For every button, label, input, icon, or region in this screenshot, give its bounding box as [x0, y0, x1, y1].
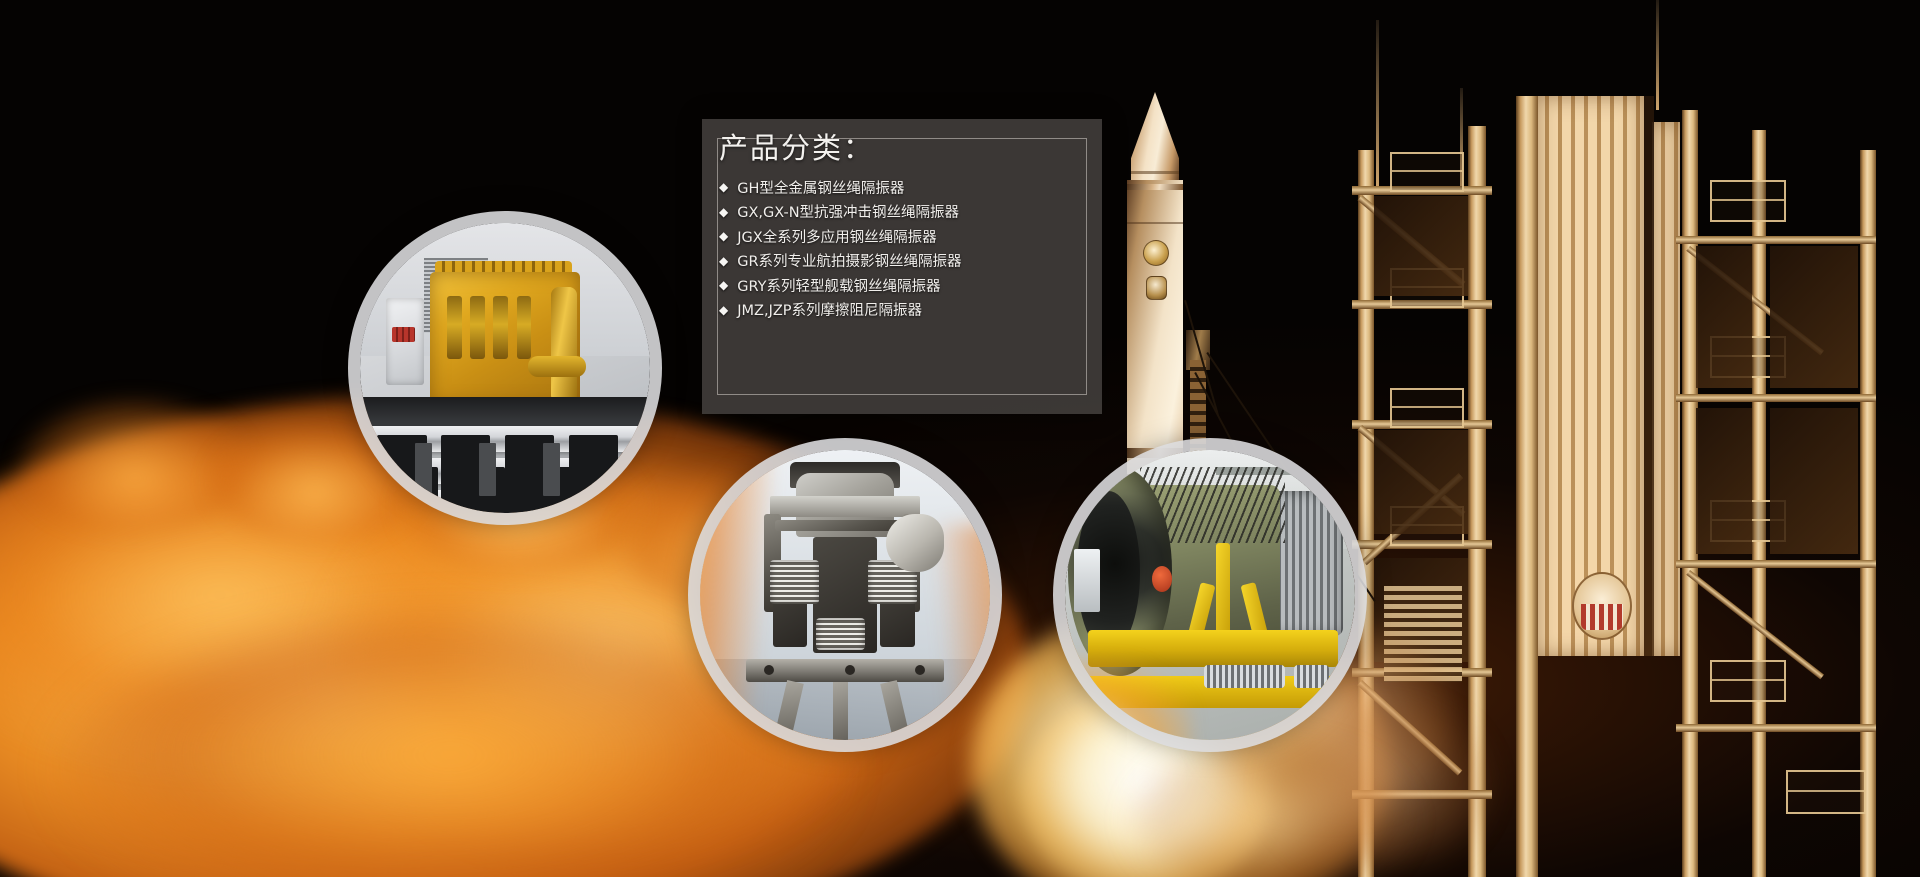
tower-beam: [1676, 560, 1876, 568]
coil-spring-isolator: [1204, 665, 1285, 688]
list-item[interactable]: ◆ GR系列专业航拍摄影钢丝绳隔振器: [719, 249, 1094, 274]
bolt-icon: [845, 665, 855, 675]
product-photo-diesel-generator[interactable]: [360, 223, 650, 513]
side-roller: [886, 514, 944, 572]
tower-beam: [1676, 394, 1876, 402]
isolator-slot: [569, 435, 618, 513]
engine-cylinder: [493, 296, 508, 360]
product-photo-wire-rope-isolator[interactable]: [700, 450, 990, 740]
rocket-mission-patch-icon: [1146, 276, 1167, 300]
tower-shadow-face: [1644, 96, 1654, 656]
tower-equipment-bay: [1696, 408, 1752, 554]
list-item[interactable]: ◆ GX,GX-N型抗强冲击钢丝绳隔振器: [719, 200, 1094, 225]
mounting-plate: [770, 496, 921, 516]
list-item-label: JGX全系列多应用钢丝绳隔振器: [737, 226, 936, 247]
tower-beam: [1676, 236, 1876, 244]
rocket-mission-patch-icon: [1143, 240, 1169, 266]
engine-cylinder: [470, 296, 485, 360]
tower-antenna-icon: [1376, 20, 1379, 188]
photo-inner: [360, 223, 650, 513]
tower-equipment-bay: [1374, 430, 1468, 534]
banner-stage: Delta: [0, 0, 1920, 877]
tower-cladding-panel: [1536, 96, 1644, 656]
tower-platform-railing: [1710, 180, 1786, 222]
list-item-label: JMZ,JZP系列摩擦阻尼隔振器: [737, 299, 922, 320]
tower-mission-emblem-icon: [1572, 572, 1632, 640]
diamond-bullet-icon: ◆: [719, 255, 728, 267]
coil-spring-isolator: [1294, 665, 1329, 688]
support-leg: [833, 682, 848, 740]
isolator-tag: [543, 443, 560, 495]
isolator-tag: [479, 443, 496, 495]
tower-equipment-bay: [1770, 246, 1858, 388]
engine-cylinder: [447, 296, 462, 360]
list-item[interactable]: ◆ GH型全金属钢丝绳隔振器: [719, 175, 1094, 200]
engine-cylinder: [517, 296, 532, 360]
tower-equipment-bay: [1696, 246, 1752, 388]
rocket-seam: [1127, 222, 1183, 224]
engine-exhaust-pipe: [551, 287, 577, 403]
bolt-icon: [915, 665, 925, 675]
tower-equipment-bay: [1374, 196, 1468, 296]
cradle-post: [1216, 543, 1231, 642]
tower-platform-railing: [1390, 388, 1464, 428]
list-item-label: GX,GX-N型抗强冲击钢丝绳隔振器: [737, 201, 959, 222]
engine-placard: [1074, 549, 1100, 613]
diamond-bullet-icon: ◆: [719, 230, 728, 242]
tower-equipment-bay: [1770, 408, 1858, 554]
photo-inner: [1065, 450, 1355, 740]
list-item[interactable]: ◆ JMZ,JZP系列摩擦阻尼隔振器: [719, 298, 1094, 323]
panel-title: 产品分类：: [719, 125, 874, 167]
diamond-bullet-icon: ◆: [719, 279, 728, 291]
list-item-label: GH型全金属钢丝绳隔振器: [737, 177, 904, 198]
product-category-panel: 产品分类： ◆ GH型全金属钢丝绳隔振器 ◆ GX,GX-N型抗强冲击钢丝绳隔振…: [702, 119, 1102, 414]
bolt-icon: [764, 665, 774, 675]
photo-flame-overlay: [1065, 659, 1193, 740]
diamond-bullet-icon: ◆: [719, 206, 728, 218]
list-item[interactable]: ◆ JGX全系列多应用钢丝绳隔振器: [719, 224, 1094, 249]
diamond-bullet-icon: ◆: [719, 181, 728, 193]
control-panel: [386, 298, 424, 385]
product-category-list: ◆ GH型全金属钢丝绳隔振器 ◆ GX,GX-N型抗强冲击钢丝绳隔振器 ◆ JG…: [719, 175, 1094, 322]
wire-rope-coil: [816, 618, 865, 650]
tower-platform-railing: [1786, 770, 1866, 814]
product-photo-jet-engine[interactable]: [1065, 450, 1355, 740]
engine-skid-base: [360, 397, 650, 426]
tower-column: [1860, 150, 1876, 877]
tower-antenna-icon: [1656, 0, 1659, 110]
engine-manifold: [528, 356, 586, 376]
tower-column: [1516, 96, 1538, 877]
diamond-bullet-icon: ◆: [719, 304, 728, 316]
list-item-label: GR系列专业航拍摄影钢丝绳隔振器: [737, 250, 961, 271]
tower-platform-railing: [1710, 660, 1786, 702]
rocket-nose-cone: [1131, 92, 1179, 184]
wire-rope-coil: [770, 560, 819, 604]
rocket-stage-band: [1127, 184, 1183, 190]
tower-beam: [1676, 724, 1876, 732]
list-item-label: GRY系列轻型舰载钢丝绳隔振器: [737, 275, 940, 296]
wiring-harness: [392, 327, 415, 342]
tower-platform-railing: [1390, 152, 1464, 192]
tower-cladding-panel: [1652, 122, 1680, 656]
photo-inner: [700, 450, 990, 740]
list-item[interactable]: ◆ GRY系列轻型舰载钢丝绳隔振器: [719, 273, 1094, 298]
isolator-tag: [415, 443, 432, 495]
